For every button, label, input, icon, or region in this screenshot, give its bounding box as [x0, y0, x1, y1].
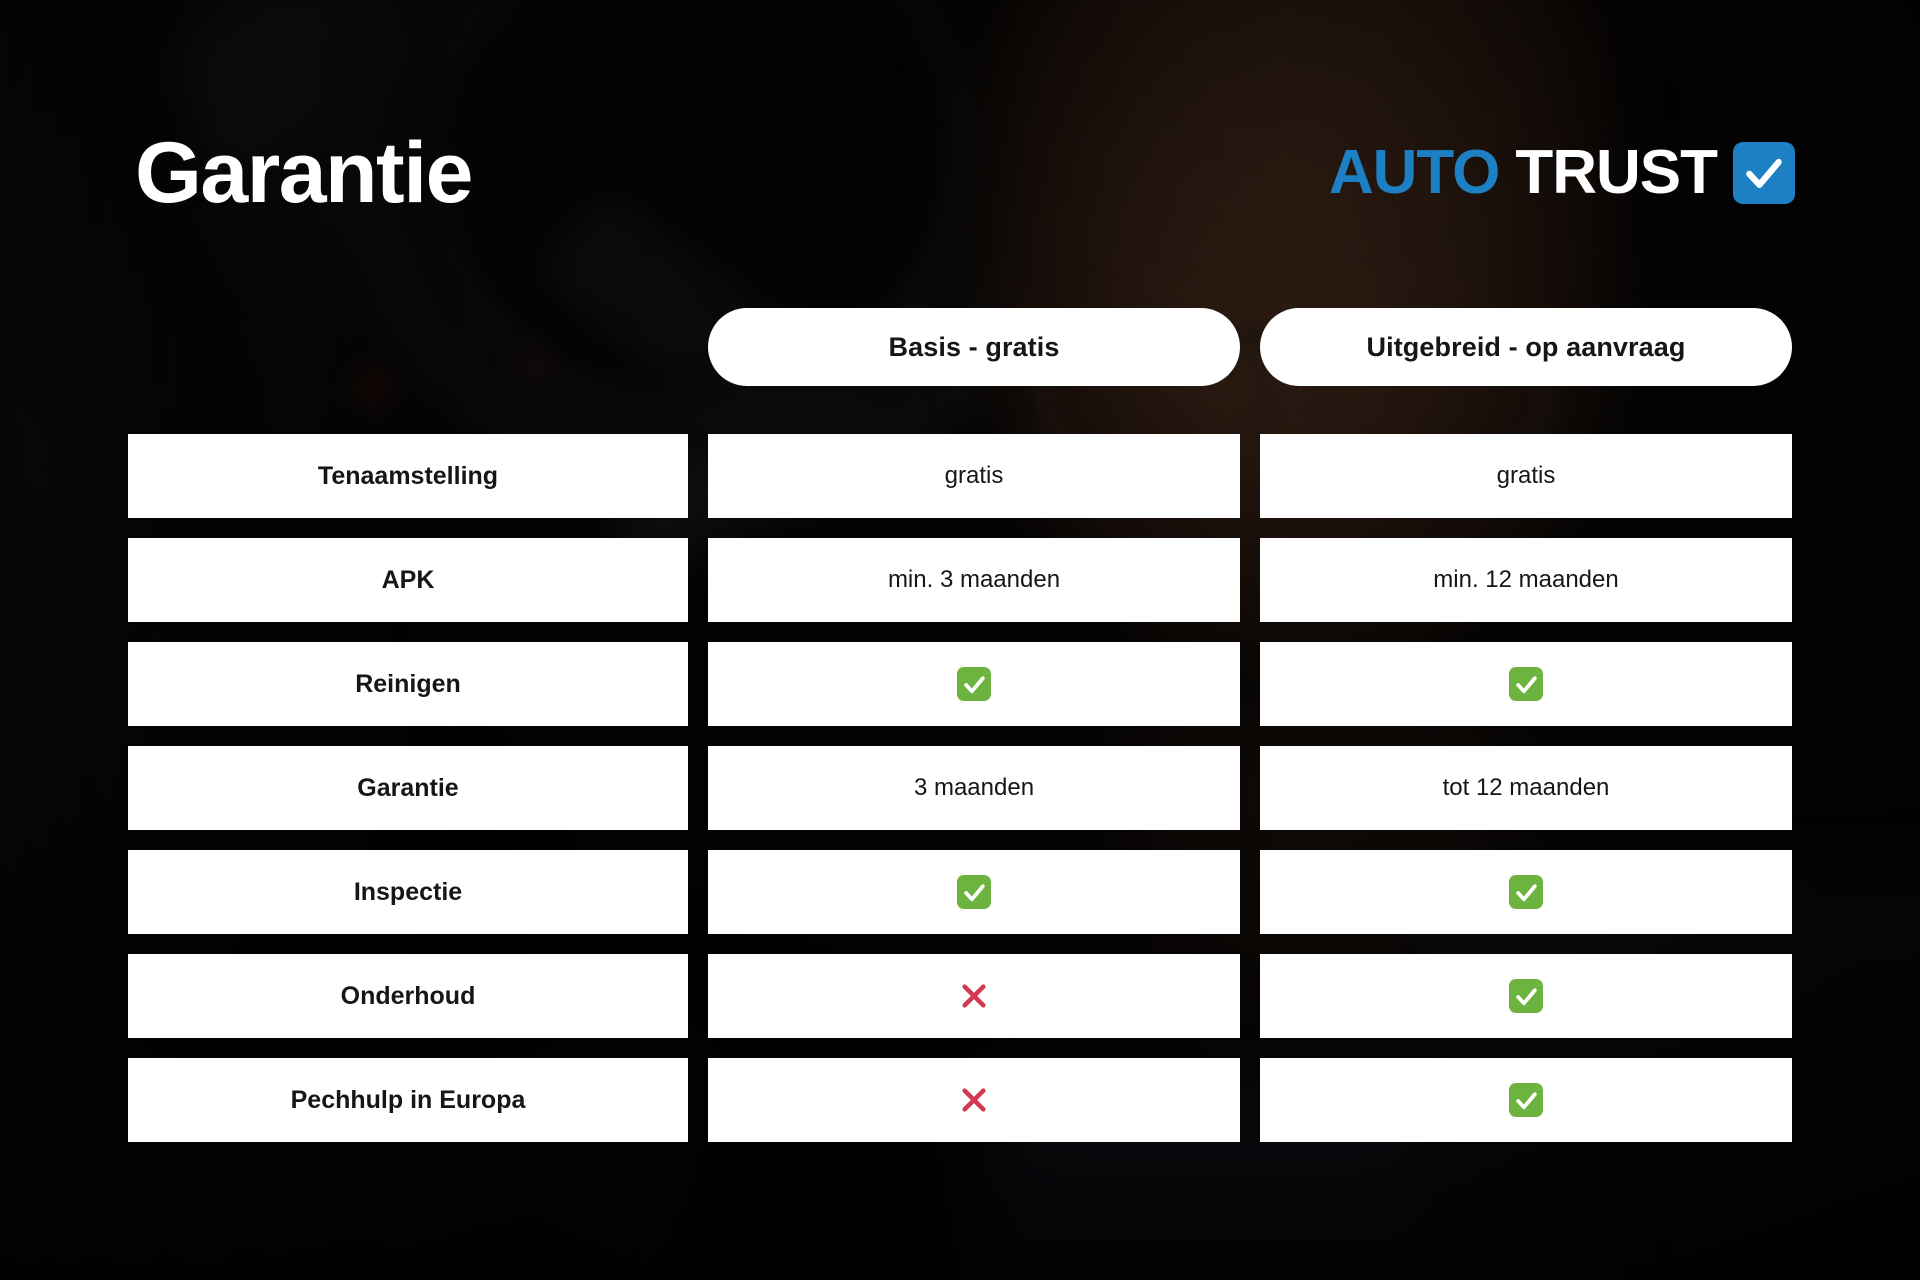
row-label: APK: [128, 538, 688, 622]
row-label: Reinigen: [128, 642, 688, 726]
row-label: Garantie: [128, 746, 688, 830]
row-label: Tenaamstelling: [128, 434, 688, 518]
cell-uitgebreid: [1260, 954, 1792, 1038]
cell-uitgebreid: [1260, 850, 1792, 934]
cell-basis: 3 maanden: [708, 746, 1240, 830]
logo-text-auto: AUTO: [1329, 142, 1500, 204]
table-row: Inspectie: [128, 850, 1792, 934]
cell-uitgebreid: gratis: [1260, 434, 1792, 518]
table-row: Tenaamstellinggratisgratis: [128, 434, 1792, 518]
cell-basis: [708, 850, 1240, 934]
cell-uitgebreid: min. 12 maanden: [1260, 538, 1792, 622]
column-header-basis[interactable]: Basis - gratis: [708, 308, 1240, 386]
cell-uitgebreid: tot 12 maanden: [1260, 746, 1792, 830]
row-label: Onderhoud: [128, 954, 688, 1038]
cell-basis: [708, 954, 1240, 1038]
header: Garantie AUTO TRUST: [135, 118, 1795, 228]
check-icon: [1509, 667, 1543, 701]
check-icon: [1509, 875, 1543, 909]
table-row: Onderhoud: [128, 954, 1792, 1038]
table-row: Pechhulp in Europa: [128, 1058, 1792, 1142]
row-label: Pechhulp in Europa: [128, 1058, 688, 1142]
check-icon: [957, 875, 991, 909]
cell-uitgebreid: [1260, 642, 1792, 726]
cell-uitgebreid: [1260, 1058, 1792, 1142]
table-row: Garantie3 maandentot 12 maanden: [128, 746, 1792, 830]
logo-text-trust: TRUST: [1515, 142, 1717, 204]
cross-icon: [957, 979, 991, 1013]
cell-basis: [708, 1058, 1240, 1142]
autotrust-logo: AUTO TRUST: [1329, 142, 1795, 204]
column-header-spacer: [128, 308, 688, 386]
page-title: Garantie: [135, 130, 472, 216]
check-icon: [1509, 979, 1543, 1013]
cell-basis: gratis: [708, 434, 1240, 518]
cross-icon: [957, 1083, 991, 1117]
check-icon: [1509, 1083, 1543, 1117]
row-label: Inspectie: [128, 850, 688, 934]
table-row: Reinigen: [128, 642, 1792, 726]
comparison-table: TenaamstellinggratisgratisAPKmin. 3 maan…: [128, 434, 1792, 1142]
cell-basis: [708, 642, 1240, 726]
check-badge-icon: [1733, 142, 1795, 204]
table-row: APKmin. 3 maandenmin. 12 maanden: [128, 538, 1792, 622]
column-header-uitgebreid[interactable]: Uitgebreid - op aanvraag: [1260, 308, 1792, 386]
column-header-row: Basis - gratis Uitgebreid - op aanvraag: [128, 308, 1792, 386]
check-icon: [957, 667, 991, 701]
cell-basis: min. 3 maanden: [708, 538, 1240, 622]
